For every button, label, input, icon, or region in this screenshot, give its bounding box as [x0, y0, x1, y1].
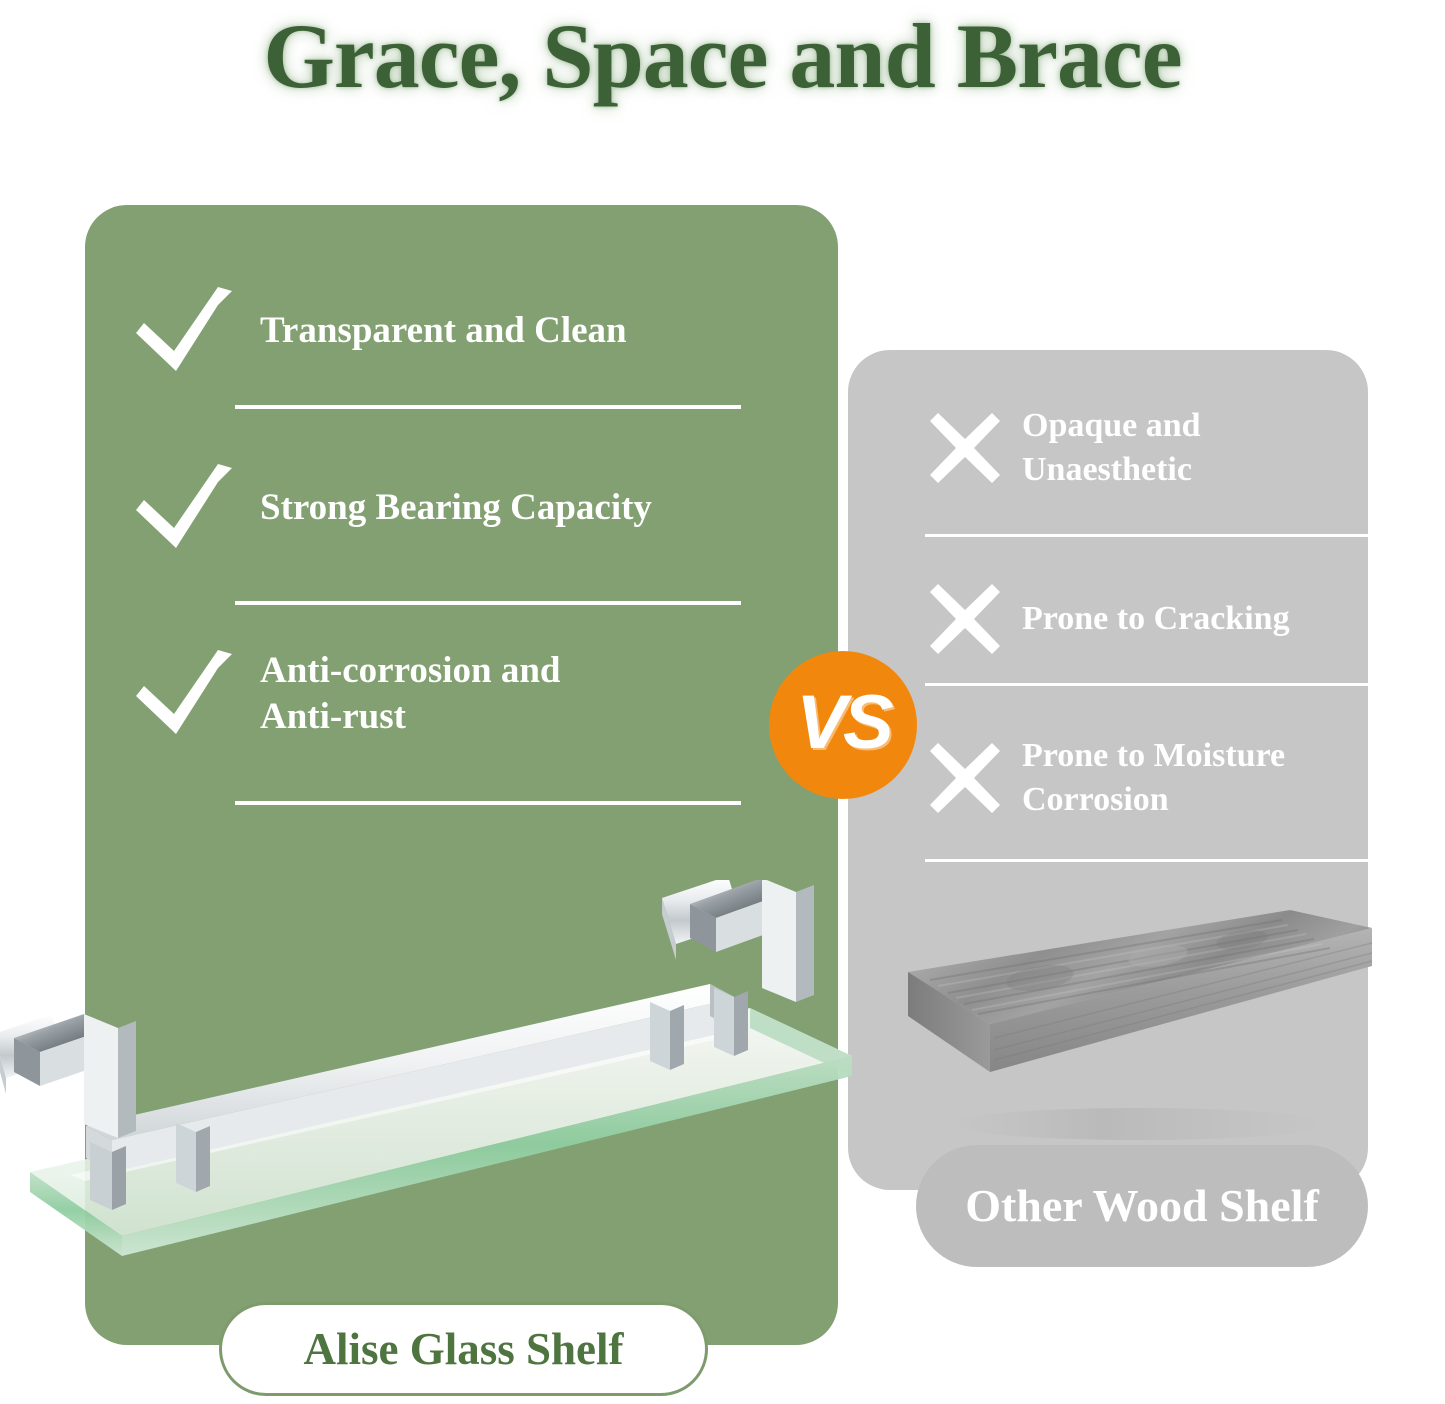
x-icon: [928, 582, 1002, 656]
vs-label: VS: [796, 685, 889, 761]
feature-label: Anti-corrosion and Anti-rust: [260, 648, 560, 740]
page-title: Grace, Space and Brace: [0, 2, 1445, 110]
divider-line: [925, 534, 1368, 537]
check-icon: [130, 648, 238, 740]
feature-row-transparent: Transparent and Clean: [130, 285, 627, 377]
feature-label: Prone to Moisture Corrosion: [1022, 734, 1285, 822]
feature-label: Prone to Cracking: [1022, 597, 1290, 641]
x-icon: [928, 411, 1002, 485]
feature-row-cracking: Prone to Cracking: [928, 582, 1290, 656]
divider-line: [235, 405, 741, 409]
feature-row-anticorrosion: Anti-corrosion and Anti-rust: [130, 648, 560, 740]
x-icon: [928, 741, 1002, 815]
feature-label: Strong Bearing Capacity: [260, 485, 652, 531]
check-icon: [130, 462, 238, 554]
vs-circle-icon: VS: [769, 651, 917, 799]
wood-shelf-label-pill: Other Wood Shelf: [916, 1145, 1368, 1267]
glass-shelf-illustration: [0, 880, 870, 1260]
divider-line: [235, 601, 741, 605]
glass-shelf-label-text: Alise Glass Shelf: [303, 1327, 623, 1372]
check-icon: [130, 285, 238, 377]
divider-line: [235, 801, 741, 805]
glass-shelf-label-pill: Alise Glass Shelf: [219, 1302, 708, 1396]
feature-label: Opaque and Unaesthetic: [1022, 404, 1201, 492]
divider-line: [925, 859, 1368, 862]
divider-line: [925, 683, 1368, 686]
wood-shelf-label-text: Other Wood Shelf: [965, 1183, 1319, 1229]
wood-plank-illustration: [890, 900, 1380, 1160]
feature-label: Transparent and Clean: [260, 308, 627, 354]
feature-row-opaque: Opaque and Unaesthetic: [928, 404, 1201, 492]
comparison-infographic: Grace, Space and Brace Transparent and C…: [0, 0, 1445, 1404]
feature-row-moisture: Prone to Moisture Corrosion: [928, 734, 1285, 822]
feature-row-bearing: Strong Bearing Capacity: [130, 462, 652, 554]
